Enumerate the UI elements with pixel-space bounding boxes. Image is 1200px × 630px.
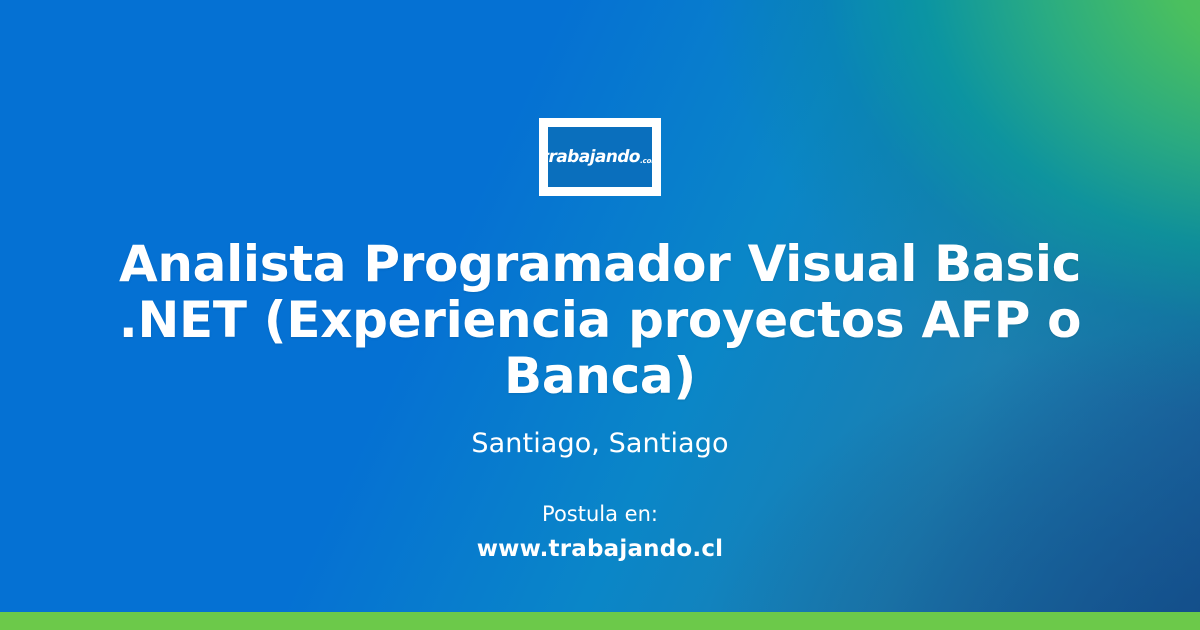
logo-wordmark: trabajando .com (539, 149, 660, 166)
logo-blue-box: trabajando .com (548, 127, 652, 187)
page-title: Analista Programador Visual Basic .NET (… (100, 236, 1100, 404)
job-location: Santiago, Santiago (471, 428, 728, 459)
apply-label: Postula en: (542, 502, 658, 526)
logo-tld-text: .com (638, 157, 659, 166)
card-content: trabajando .com Analista Programador Vis… (0, 0, 1200, 630)
job-share-card: trabajando .com Analista Programador Vis… (0, 0, 1200, 630)
apply-url[interactable]: www.trabajando.cl (477, 536, 724, 562)
logo-wordmark-text: trabajando (539, 149, 641, 166)
trabajando-logo[interactable]: trabajando .com (539, 118, 661, 196)
bottom-accent-bar (0, 612, 1200, 630)
